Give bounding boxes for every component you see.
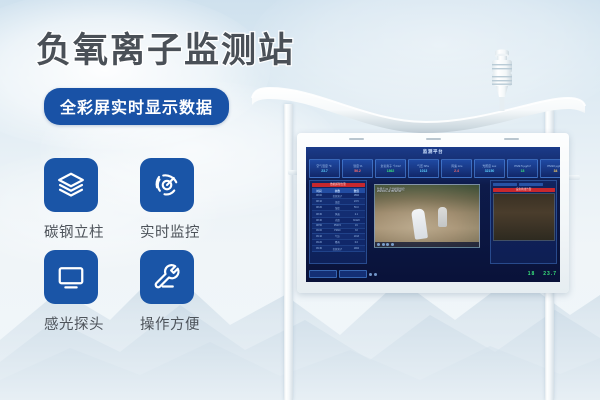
panel-tab-chip[interactable] bbox=[493, 183, 517, 187]
bezel-mark bbox=[504, 138, 519, 140]
monitoring-station: 监测平台 空气温度 ℃ 23.7 湿度 % 56.2 负氧离子 个/cm³ 18… bbox=[0, 0, 600, 400]
alarm-map-panel[interactable]: 设备离线告警 bbox=[490, 180, 557, 264]
table-cell: 负氧离子 bbox=[327, 246, 349, 252]
kpi-value: 1013 bbox=[420, 169, 428, 173]
site-map-thumbnail[interactable] bbox=[493, 193, 555, 241]
kpi-card[interactable]: 风速 m/s 2.4 bbox=[441, 159, 472, 178]
kpi-label: PM2.5 μg/m³ bbox=[514, 164, 530, 168]
measurement-table: 时间 参数 数值 08:00 负氧离子 1862 bbox=[312, 188, 365, 252]
footer-readout-2: 23.7 bbox=[543, 271, 557, 277]
support-post-left bbox=[284, 104, 293, 400]
kpi-card[interactable]: 光照度 Lux 32150 bbox=[474, 159, 505, 178]
dashboard-screen[interactable]: 监测平台 空气温度 ℃ 23.7 湿度 % 56.2 负氧离子 个/cm³ 18… bbox=[306, 147, 560, 282]
video-controls[interactable] bbox=[375, 242, 479, 247]
kpi-value: 56.2 bbox=[354, 169, 361, 173]
fullscreen-icon[interactable] bbox=[391, 243, 394, 246]
kpi-label: 气压 hPa bbox=[418, 164, 430, 168]
dashboard-title: 监测平台 bbox=[306, 149, 560, 155]
kpi-value: 18 bbox=[521, 169, 525, 173]
kpi-label: 空气温度 ℃ bbox=[317, 164, 332, 168]
kpi-card[interactable]: 负氧离子 个/cm³ 1862 bbox=[375, 159, 406, 178]
kpi-label: 负氧离子 个/cm³ bbox=[380, 164, 401, 168]
panel-tab-chip[interactable] bbox=[519, 183, 543, 187]
pause-icon[interactable] bbox=[382, 243, 385, 246]
refresh-icon[interactable] bbox=[369, 273, 372, 276]
snapshot-icon[interactable] bbox=[386, 243, 389, 246]
video-osd-timestamp: 2023-06-12 09:32:10 bbox=[377, 190, 401, 193]
kpi-value: 32150 bbox=[485, 169, 494, 173]
time-range-select[interactable] bbox=[309, 270, 337, 278]
measurement-table-panel[interactable]: 数据超限告警 时间 参数 数值 08: bbox=[309, 180, 367, 264]
kpi-value: 34 bbox=[554, 169, 558, 173]
kpi-value: 2.4 bbox=[454, 169, 459, 173]
kpi-row: 空气温度 ℃ 23.7 湿度 % 56.2 负氧离子 个/cm³ 1862 气压… bbox=[309, 159, 560, 178]
video-panel: 监测点 01 农田视频监控 2023-06-12 09:32:10 bbox=[369, 180, 488, 264]
kpi-card[interactable]: PM2.5 μg/m³ 18 bbox=[507, 159, 538, 178]
metric-select[interactable] bbox=[339, 270, 367, 278]
weather-sensor-shield bbox=[487, 47, 517, 111]
curved-canopy bbox=[248, 82, 588, 134]
bezel-mark bbox=[426, 138, 441, 140]
footer-readout-1: 18 bbox=[528, 271, 536, 277]
table-cell: 09:30 bbox=[312, 246, 327, 252]
kpi-card[interactable]: PM10 μg/m³ 34 bbox=[540, 159, 560, 178]
kpi-value: 1862 bbox=[387, 169, 395, 173]
kpi-card[interactable]: 气压 hPa 1013 bbox=[408, 159, 439, 178]
table-header-row: 时间 参数 数值 bbox=[312, 188, 365, 193]
kpi-label: 湿度 % bbox=[353, 164, 362, 168]
kpi-label: 风速 m/s bbox=[451, 164, 462, 168]
kpi-card[interactable]: 湿度 % 56.2 bbox=[342, 159, 373, 178]
export-icon[interactable] bbox=[374, 273, 377, 276]
bezel-mark bbox=[349, 138, 364, 140]
kpi-value: 23.7 bbox=[321, 169, 328, 173]
product-banner: 负氧离子监测站 全彩屏实时显示数据 碳钢立柱 bbox=[0, 0, 600, 400]
kpi-label: PM10 μg/m³ bbox=[548, 164, 560, 168]
led-display-frame: 监测平台 空气温度 ℃ 23.7 湿度 % 56.2 负氧离子 个/cm³ 18… bbox=[297, 133, 569, 293]
alarm-banner: 设备离线告警 bbox=[493, 188, 555, 192]
alarm-banner: 数据超限告警 bbox=[312, 183, 365, 187]
dashboard-footer: 18 23.7 bbox=[309, 269, 557, 279]
table-row[interactable]: 09:30 负氧离子 1904 bbox=[312, 246, 365, 252]
table-cell: 1904 bbox=[348, 246, 364, 252]
kpi-card[interactable]: 空气温度 ℃ 23.7 bbox=[309, 159, 340, 178]
dashboard-main-area: 数据超限告警 时间 参数 数值 08: bbox=[309, 180, 557, 264]
video-feed[interactable]: 监测点 01 农田视频监控 2023-06-12 09:32:10 bbox=[374, 184, 480, 248]
video-subject-person bbox=[438, 207, 447, 227]
play-icon[interactable] bbox=[377, 243, 380, 246]
video-subject-person bbox=[411, 208, 428, 240]
kpi-label: 光照度 Lux bbox=[483, 164, 497, 168]
